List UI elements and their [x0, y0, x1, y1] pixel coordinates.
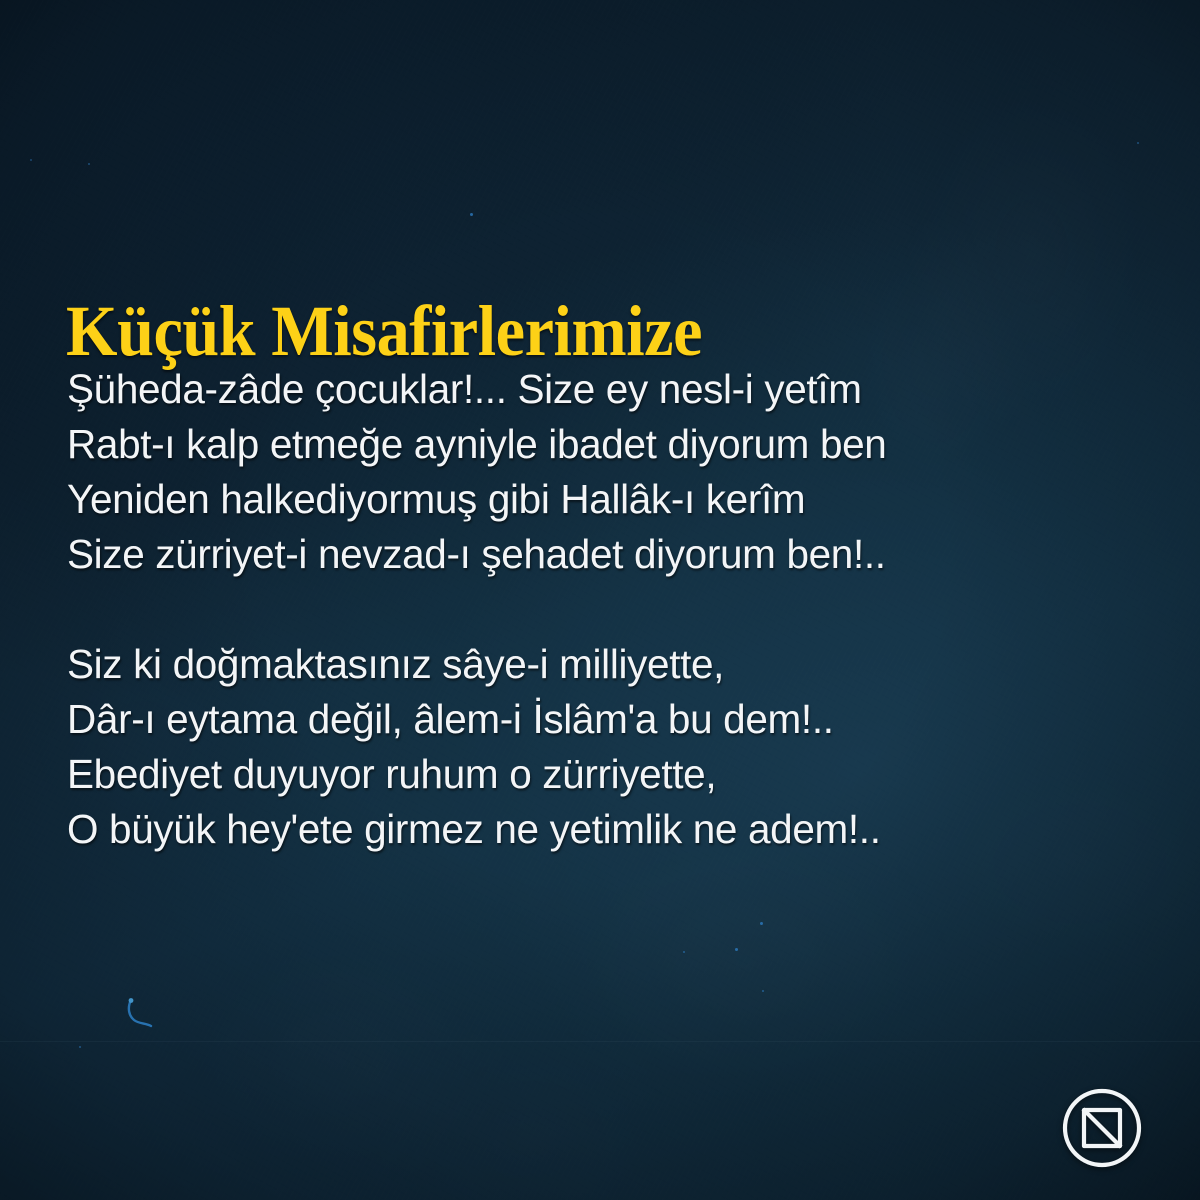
poem-line: Yeniden halkediyormuş gibi Hallâk-ı kerî…	[67, 472, 1127, 527]
poem-line: Ebediyet duyuyor ruhum o zürriyette,	[67, 747, 1127, 802]
poem-line: Dâr-ı eytama değil, âlem-i İslâm'a bu de…	[67, 692, 1127, 747]
poem-line: O büyük hey'ete girmez ne yetimlik ne ad…	[67, 802, 1127, 857]
poster-content: Küçük Misafirlerimize Şüheda-zâde çocukl…	[0, 0, 1200, 1200]
poem-stanza: Şüheda-zâde çocuklar!... Size ey nesl-i …	[67, 362, 1127, 582]
circled-n-monogram-logo	[1060, 1086, 1144, 1170]
poem-line: Rabt-ı kalp etmeğe ayniyle ibadet diyoru…	[67, 417, 1127, 472]
poem-line: Size zürriyet-i nevzad-ı şehadet diyorum…	[67, 527, 1127, 582]
poem-body: Şüheda-zâde çocuklar!... Size ey nesl-i …	[67, 362, 1127, 857]
poem-line: Şüheda-zâde çocuklar!... Size ey nesl-i …	[67, 362, 1127, 417]
poem-line: Siz ki doğmaktasınız sâye-i milliyette,	[67, 637, 1127, 692]
page-title: Küçük Misafirlerimize	[66, 295, 702, 367]
poster-canvas: Küçük Misafirlerimize Şüheda-zâde çocukl…	[0, 0, 1200, 1200]
poem-stanza: Siz ki doğmaktasınız sâye-i milliyette, …	[67, 637, 1127, 857]
